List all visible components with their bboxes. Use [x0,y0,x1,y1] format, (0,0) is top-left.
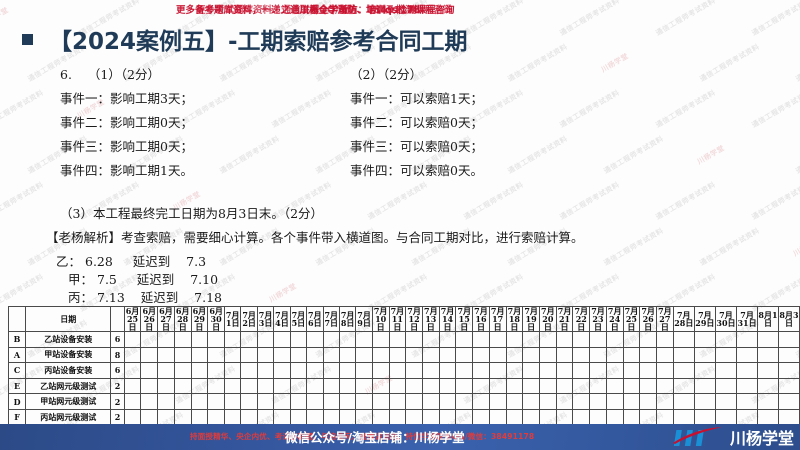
gantt-empty-cell [556,378,573,394]
gantt-empty-cell [758,394,779,410]
gantt-header-row: 日期 6月25日6月26日6月27日6月28日6月29日6月30日7月1日7月2… [9,307,800,332]
gantt-empty-cell [623,378,640,394]
gantt-empty-cell [439,378,456,394]
gantt-day-header-26: 7月20日 [539,307,556,332]
gantt-empty-cell [640,409,657,425]
gantt-day-header-19: 7月13日 [422,307,439,332]
gantt-empty-cell [141,409,158,425]
gantt-empty-cell [715,332,736,348]
gantt-empty-cell [778,363,799,379]
gantt-empty-cell [590,363,607,379]
gantt-empty-cell [389,394,406,410]
gantt-empty-cell [224,409,240,425]
watermark-text: 通信工程师考试资料 [0,180,45,222]
gantt-empty-cell [208,394,225,410]
part2-label: （2）（2分） [350,64,422,83]
watermark-text: 通信工程师考试资料 [506,42,569,84]
gantt-empty-cell [158,347,175,363]
gantt-bar-cell [389,347,406,363]
gantt-empty-cell [556,394,573,410]
watermark-text: 通信工程师考试资料 [654,180,717,222]
gantt-empty-cell [257,363,273,379]
gantt-empty-cell [339,363,355,379]
gantt-empty-cell [456,347,473,363]
gantt-row-duration: 6 [111,363,124,379]
gantt-day-header-39: 8月3日 [778,307,799,332]
gantt-empty-cell [241,347,257,363]
gantt-bar-cell [473,363,490,379]
brand-logo-text: 川杨学堂 [730,425,794,449]
gantt-empty-cell [473,409,490,425]
gantt-row-A: A甲站设备安装8 [9,347,800,363]
gantt-empty-cell [737,332,758,348]
gantt-empty-cell [737,409,758,425]
gantt-day-header-32: 7月26日 [640,307,657,332]
gantt-day-header-21: 7月15日 [456,307,473,332]
gantt-empty-cell [274,409,290,425]
gantt-empty-cell [456,409,473,425]
part1-item-1: 事件一：影响工期3天； [60,88,193,107]
gantt-empty-cell [590,347,607,363]
part2-item-3: 事件三：可以索赔0天； [350,136,483,155]
gantt-empty-cell [141,363,158,379]
gantt-empty-cell [673,332,694,348]
gantt-row-name: 甲站设备安装 [26,347,111,363]
watermark-text: 通信工程师考试资料 [794,42,800,84]
gantt-day-header-15: 7月9日 [356,307,372,332]
watermark-text: 通信工程师考试资料 [462,180,525,222]
gantt-day-header-27: 7月21日 [556,307,573,332]
gantt-empty-cell [606,363,623,379]
gantt-empty-cell [657,394,674,410]
gantt-empty-cell [623,347,640,363]
gantt-bar-cell [372,347,389,363]
gantt-empty-cell [141,332,158,348]
gantt-empty-cell [208,409,225,425]
gantt-empty-cell [356,378,372,394]
gantt-bar-cell [191,332,208,348]
gantt-day-header-10: 7月4日 [274,307,290,332]
gantt-empty-cell [339,394,355,410]
gantt-empty-cell [623,409,640,425]
gantt-empty-cell [556,347,573,363]
watermark-text: 通信工程师考试资料 [750,88,800,130]
gantt-empty-cell [422,347,439,363]
gantt-row-duration: 6 [111,332,124,348]
gantt-empty-cell [307,394,323,410]
gantt-empty-cell [158,409,175,425]
gantt-row-D: D甲站网元级测试2 [9,394,800,410]
gantt-empty-cell [174,378,191,394]
gantt-empty-cell [158,363,175,379]
gantt-empty-cell [191,347,208,363]
gantt-empty-cell [758,332,779,348]
gantt-chart-table: 日期 6月25日6月26日6月27日6月28日6月29日6月30日7月1日7月2… [8,306,800,441]
watermark-text: 通信工程师考试资料 [698,42,761,84]
gantt-bar-cell [439,363,456,379]
gantt-empty-cell [758,378,779,394]
delay-row-1: 乙： 6.28 延迟到 7.3 [56,251,206,270]
gantt-empty-cell [456,378,473,394]
gantt-empty-cell [274,363,290,379]
gantt-day-header-25: 7月19日 [523,307,540,332]
gantt-empty-cell [606,378,623,394]
footer-banner: 持面授精华、央企内优、考试必刷题、与培每天、直播讲训练、持优学堂联系QQ/微信：… [0,424,800,450]
gantt-header-code [9,307,26,332]
gantt-empty-cell [141,347,158,363]
gantt-row-duration: 8 [111,347,124,363]
gantt-day-header-20: 7月14日 [439,307,456,332]
gantt-empty-cell [124,409,141,425]
gantt-empty-cell [290,394,306,410]
delay-who-3: 丙： [68,290,93,305]
gantt-empty-cell [523,378,540,394]
gantt-empty-cell [573,363,590,379]
delay-row-2: 甲： 7.5 延迟到 7.10 [68,269,218,288]
gantt-empty-cell [473,394,490,410]
gantt-bar-cell [422,363,439,379]
gantt-empty-cell [241,363,257,379]
delay-word-3: 延迟到 [141,290,179,305]
gantt-empty-cell [372,363,389,379]
gantt-empty-cell [523,363,540,379]
gantt-empty-cell [640,378,657,394]
gantt-empty-cell [758,363,779,379]
delay-word-2: 延迟到 [137,272,175,287]
gantt-empty-cell [539,378,556,394]
gantt-empty-cell [778,394,799,410]
gantt-empty-cell [573,378,590,394]
gantt-empty-cell [274,378,290,394]
watermark-text: 川杨学堂 [600,51,631,75]
gantt-empty-cell [606,409,623,425]
gantt-day-header-33: 7月27日 [657,307,674,332]
gantt-empty-cell [174,394,191,410]
gantt-empty-cell [737,347,758,363]
gantt-empty-cell [489,409,506,425]
gantt-day-header-30: 7月24日 [606,307,623,332]
gantt-empty-cell [473,347,490,363]
part2-item-1: 事件一：可以索赔1天； [350,88,483,107]
gantt-empty-cell [673,347,694,363]
slide-title: 【2024案例五】-工期索赔参考合同工期 [22,22,468,56]
gantt-empty-cell [539,363,556,379]
gantt-empty-cell [606,394,623,410]
gantt-day-header-24: 7月18日 [506,307,523,332]
gantt-empty-cell [307,363,323,379]
gantt-row-name: 甲站网元级测试 [26,394,111,410]
gantt-empty-cell [290,378,306,394]
gantt-row-code: C [9,363,26,379]
gantt-empty-cell [307,409,323,425]
gantt-empty-cell [241,394,257,410]
gantt-empty-cell [506,347,523,363]
gantt-empty-cell [556,332,573,348]
gantt-empty-cell [389,363,406,379]
gantt-day-header-11: 7月5日 [290,307,306,332]
gantt-row-code: F [9,409,26,425]
gantt-empty-cell [224,394,240,410]
gantt-empty-cell [523,347,540,363]
watermark-text: 川杨学堂 [268,281,299,305]
gantt-empty-cell [274,332,290,348]
gantt-empty-cell [489,347,506,363]
gantt-row-code: B [9,332,26,348]
gantt-day-header-17: 7月11日 [389,307,406,332]
watermark-text: 川杨学堂 [696,143,727,167]
gantt-empty-cell [339,332,355,348]
gantt-empty-cell [307,332,323,348]
delay-who-1: 乙： [56,254,81,269]
gantt-empty-cell [158,378,175,394]
gantt-empty-cell [372,394,389,410]
watermark-text: 通信工程师考试资料 [698,226,761,268]
gantt-empty-cell [623,363,640,379]
gantt-empty-cell [573,394,590,410]
gantt-day-header-2: 6月26日 [141,307,158,332]
gantt-empty-cell [257,378,273,394]
gantt-bar-cell [406,347,423,363]
watermark-text: 通信工程师考试资料 [558,88,621,130]
gantt-empty-cell [737,363,758,379]
gantt-empty-cell [606,332,623,348]
watermark-text: 通信工程师考试资料 [602,134,665,176]
gantt-empty-cell [715,347,736,363]
part2-item-2: 事件二：可以索赔0天； [350,112,483,131]
gantt-bar-cell [489,363,506,379]
gantt-empty-cell [241,378,257,394]
gantt-empty-cell [456,332,473,348]
gantt-empty-cell [506,332,523,348]
watermark-text: 通信工程师考试资料 [558,180,621,222]
delay-word-1: 延迟到 [133,254,171,269]
gantt-empty-cell [556,363,573,379]
gantt-bar-cell [489,378,506,394]
gantt-empty-cell [657,363,674,379]
delay-to-3: 7.18 [194,290,222,305]
gantt-empty-cell [590,378,607,394]
delay-from-3: 7.13 [97,290,125,305]
watermark-text: 川杨学堂 [792,235,800,259]
gantt-empty-cell [158,394,175,410]
gantt-empty-cell [573,409,590,425]
gantt-empty-cell [389,409,406,425]
gantt-day-header-36: 7月30日 [715,307,736,332]
gantt-empty-cell [657,332,674,348]
gantt-bar-cell [506,363,523,379]
gantt-empty-cell [257,347,273,363]
gantt-empty-cell [694,394,715,410]
gantt-empty-cell [406,378,423,394]
chuanyang-logo-icon [671,426,725,448]
gantt-day-header-38: 8月1日 [758,307,779,332]
gantt-empty-cell [274,394,290,410]
gantt-empty-cell [439,332,456,348]
gantt-bar-cell [556,409,573,425]
gantt-day-header-34: 7月28日 [673,307,694,332]
gantt-day-header-13: 7月7日 [323,307,339,332]
top-promo-banner: 更多备考题库资料，一递之通川楊全学渐防、培训qs检测课程咨询 更多考试题库资料、… [0,0,800,20]
gantt-day-header-3: 6月27日 [158,307,175,332]
gantt-empty-cell [657,347,674,363]
gantt-empty-cell [191,363,208,379]
delay-to-1: 7.3 [186,254,206,269]
gantt-day-header-8: 7月2日 [241,307,257,332]
gantt-empty-cell [657,409,674,425]
gantt-row-name: 丙站设备安装 [26,363,111,379]
gantt-bar-cell [323,347,339,363]
brand-logo: 川杨学堂 [671,425,794,449]
gantt-day-header-29: 7月23日 [590,307,607,332]
watermark-text: 通信工程师考试资料 [506,134,569,176]
gantt-empty-cell [257,409,273,425]
delay-from-1: 6.28 [85,254,113,269]
gantt-empty-cell [307,378,323,394]
gantt-empty-cell [422,378,439,394]
gantt-empty-cell [208,347,225,363]
gantt-empty-cell [778,409,799,425]
gantt-empty-cell [758,347,779,363]
gantt-day-header-28: 7月22日 [573,307,590,332]
gantt-empty-cell [422,409,439,425]
gantt-empty-cell [290,332,306,348]
gantt-empty-cell [623,394,640,410]
gantt-day-header-18: 7月12日 [406,307,423,332]
gantt-empty-cell [323,378,339,394]
gantt-empty-cell [224,378,240,394]
gantt-row-code: E [9,378,26,394]
gantt-empty-cell [715,394,736,410]
gantt-empty-cell [339,409,355,425]
gantt-empty-cell [191,378,208,394]
gantt-empty-cell [694,378,715,394]
gantt-day-header-1: 6月25日 [124,307,141,332]
gantt-empty-cell [406,363,423,379]
gantt-empty-cell [640,347,657,363]
gantt-empty-cell [778,347,799,363]
watermark-text: 通信工程师考试资料 [602,226,665,268]
gantt-empty-cell [640,394,657,410]
gantt-empty-cell [257,332,273,348]
gantt-bar-cell [523,394,540,410]
page-title: 【2024案例五】-工期索赔参考合同工期 [49,22,468,56]
gantt-empty-cell [208,378,225,394]
watermark-text: 通信工程师考试资料 [654,88,717,130]
gantt-day-header-31: 7月25日 [623,307,640,332]
gantt-empty-cell [124,394,141,410]
gantt-bar-cell [224,332,240,348]
gantt-empty-cell [737,394,758,410]
watermark-text: 通信工程师考试资料 [0,88,45,130]
gantt-empty-cell [389,332,406,348]
gantt-empty-cell [323,394,339,410]
analysis-text: 【老杨解析】考查索赔，需要细心计算。各个事件带入横道图。与合同工期对比，进行索赔… [46,227,584,246]
gantt-empty-cell [606,347,623,363]
gantt-empty-cell [241,409,257,425]
gantt-empty-cell [124,378,141,394]
gantt-empty-cell [224,347,240,363]
footer-white-text: 微信公众号/淘宝店铺：川杨学堂 [285,427,465,446]
gantt-empty-cell [523,332,540,348]
gantt-empty-cell [590,409,607,425]
question-number: 6. [60,67,72,82]
gantt-empty-cell [406,332,423,348]
gantt-empty-cell [323,409,339,425]
gantt-day-header-9: 7月3日 [257,307,273,332]
gantt-empty-cell [274,347,290,363]
gantt-empty-cell [174,409,191,425]
delay-row-3: 丙： 7.13 延迟到 7.18 [68,287,222,306]
gantt-empty-cell [406,409,423,425]
gantt-day-header-35: 7月29日 [694,307,715,332]
gantt-empty-cell [523,409,540,425]
gantt-empty-cell [356,363,372,379]
gantt-empty-cell [174,347,191,363]
watermark-text: 通信工程师考试资料 [750,180,800,222]
gantt-empty-cell [389,378,406,394]
gantt-empty-cell [573,347,590,363]
gantt-empty-cell [141,378,158,394]
gantt-bar-cell [241,332,257,348]
gantt-row-code: A [9,347,26,363]
delay-from-2: 7.5 [97,272,117,287]
gantt-bar-cell [339,347,355,363]
gantt-empty-cell [356,409,372,425]
gantt-empty-cell [141,394,158,410]
gantt-row-name: 乙站网元级测试 [26,378,111,394]
gantt-empty-cell [737,378,758,394]
gantt-day-header-22: 7月16日 [473,307,490,332]
gantt-empty-cell [694,409,715,425]
gantt-day-header-6: 6月30日 [208,307,225,332]
gantt-row-B: B乙站设备安装6 [9,332,800,348]
gantt-empty-cell [539,394,556,410]
gantt-bar-cell [356,347,372,363]
gantt-empty-cell [224,363,240,379]
gantt-row-name: 丙站网元级测试 [26,409,111,425]
gantt-empty-cell [778,332,799,348]
gantt-empty-cell [590,332,607,348]
gantt-empty-cell [124,332,141,348]
gantt-bar-cell [473,378,490,394]
gantt-empty-cell [323,363,339,379]
gantt-empty-cell [356,332,372,348]
part1-item-2: 事件二：影响工期0天； [60,112,193,131]
gantt-empty-cell [778,378,799,394]
gantt-day-header-37: 7月31日 [737,307,758,332]
gantt-empty-cell [539,347,556,363]
gantt-header-date: 日期 [26,307,111,332]
gantt-empty-cell [640,332,657,348]
delay-to-2: 7.10 [190,272,218,287]
gantt-empty-cell [323,332,339,348]
watermark-text: 通信工程师考试资料 [366,180,429,222]
gantt-empty-cell [694,332,715,348]
gantt-row-E: E乙站网元级测试2 [9,378,800,394]
gantt-empty-cell [339,378,355,394]
gantt-empty-cell [657,378,674,394]
gantt-day-header-12: 7月6日 [307,307,323,332]
gantt-empty-cell [372,332,389,348]
gantt-bar-cell [208,332,225,348]
top-promo-line-c: 联系QQ/微信：38491178 [300,2,420,16]
question-number-and-part1: 6. （1）（2分） [60,64,160,83]
gantt-bar-cell [158,332,175,348]
gantt-bar-cell [290,347,306,363]
gantt-row-duration: 2 [111,378,124,394]
gantt-row-code: D [9,394,26,410]
watermark-text: 通信工程师考试资料 [794,134,800,176]
